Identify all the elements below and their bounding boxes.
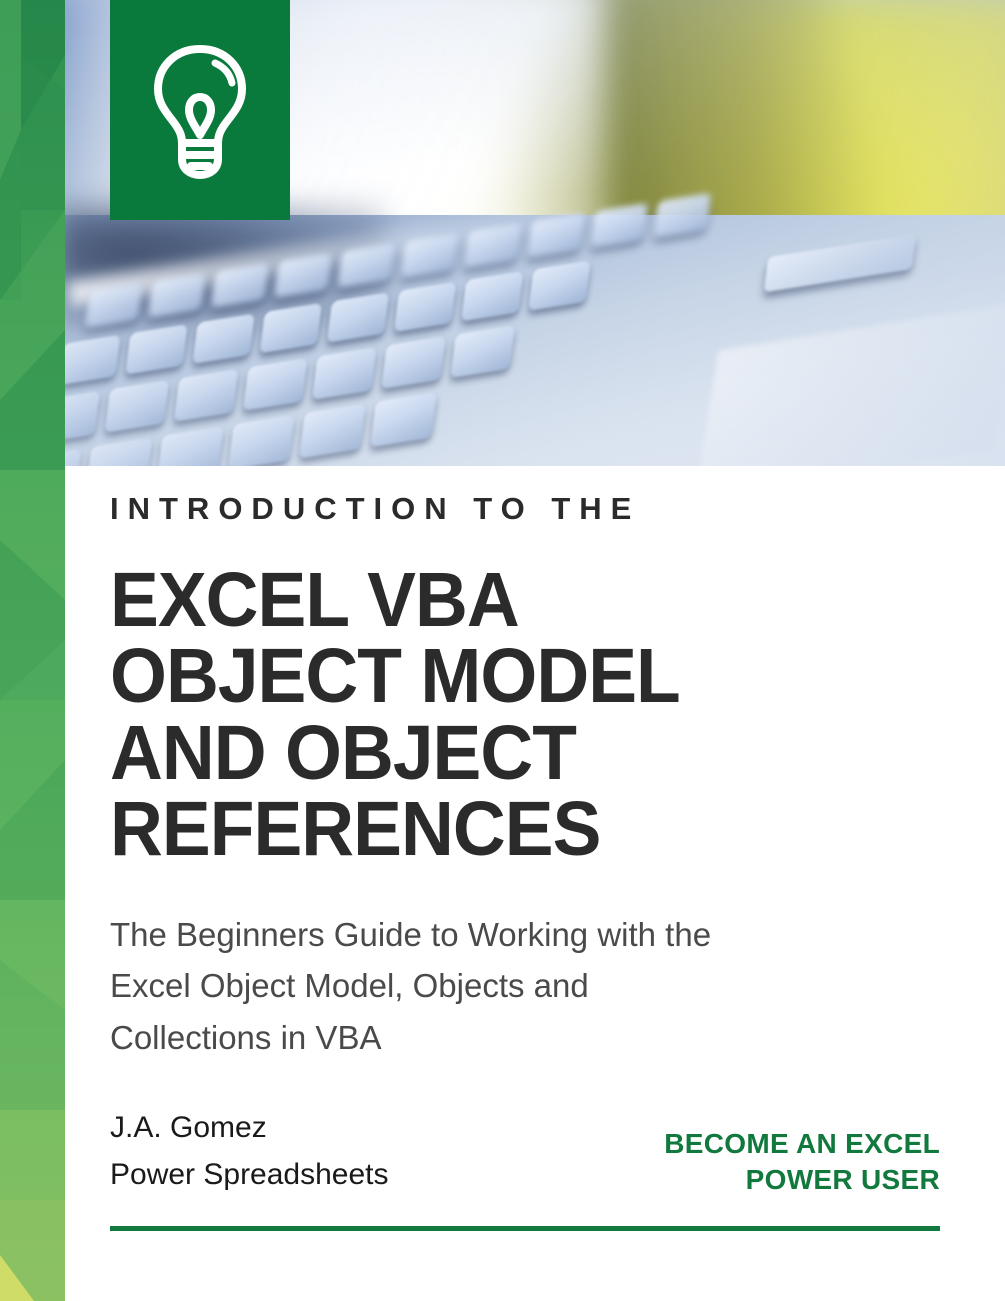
publisher-name: Power Spreadsheets	[110, 1152, 389, 1199]
tagline: BECOME AN EXCEL POWER USER	[664, 1126, 940, 1199]
cover-text-block: INTRODUCTION TO THE EXCEL VBA OBJECT MOD…	[110, 466, 940, 1231]
subtitle-line-3: Collections in VBA	[110, 1012, 810, 1063]
publisher-logo-badge	[110, 0, 290, 220]
band-facet-pattern	[0, 0, 65, 1301]
subtitle: The Beginners Guide to Working with the …	[110, 909, 810, 1063]
author-block: J.A. Gomez Power Spreadsheets	[110, 1105, 389, 1198]
author-name: J.A. Gomez	[110, 1105, 389, 1152]
title-line-2: OBJECT MODEL	[110, 638, 899, 714]
book-cover: INTRODUCTION TO THE EXCEL VBA OBJECT MOD…	[0, 0, 1005, 1301]
title-line-3: AND OBJECT	[110, 715, 899, 791]
left-decorative-band	[0, 0, 65, 1301]
bottom-rule	[110, 1226, 940, 1231]
lightbulb-icon	[144, 35, 256, 185]
page-title: EXCEL VBA OBJECT MODEL AND OBJECT REFERE…	[110, 562, 899, 867]
subtitle-line-1: The Beginners Guide to Working with the	[110, 909, 810, 960]
tagline-line-2: POWER USER	[664, 1162, 940, 1198]
tagline-line-1: BECOME AN EXCEL	[664, 1126, 940, 1162]
byline-row: J.A. Gomez Power Spreadsheets BECOME AN …	[110, 1105, 940, 1198]
title-line-1: EXCEL VBA	[110, 562, 899, 638]
subtitle-line-2: Excel Object Model, Objects and	[110, 960, 810, 1011]
title-line-4: REFERENCES	[110, 791, 899, 867]
eyebrow-text: INTRODUCTION TO THE	[110, 492, 940, 526]
